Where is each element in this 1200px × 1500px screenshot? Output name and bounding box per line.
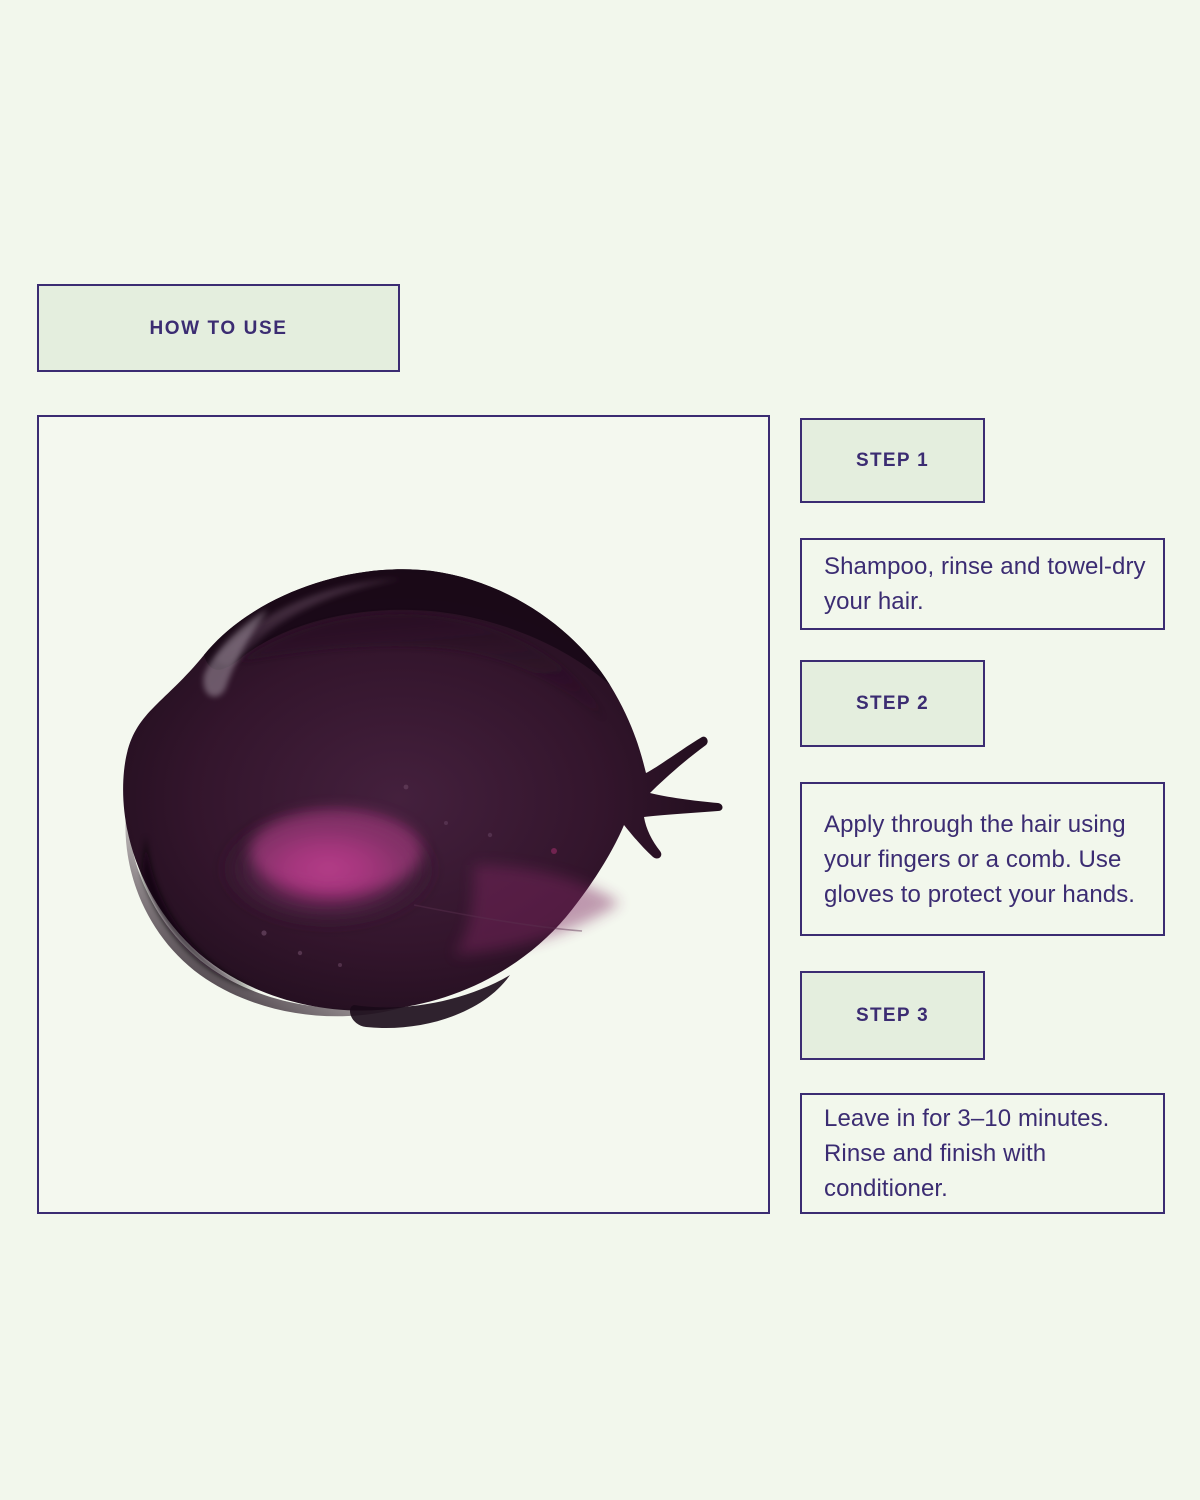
step-3-label: STEP 3 bbox=[856, 1006, 929, 1025]
swatch-pink-core bbox=[250, 809, 422, 893]
product-image-panel bbox=[37, 415, 770, 1214]
swatch-bubble bbox=[487, 832, 491, 836]
how-to-use-heading-box: HOW TO USE bbox=[37, 284, 400, 372]
step-1-label-box: STEP 1 bbox=[800, 418, 985, 503]
step-3-description: Leave in for 3–10 minutes. Rinse and fin… bbox=[802, 1101, 1163, 1206]
swatch-bubble bbox=[444, 821, 448, 825]
page-title: HOW TO USE bbox=[149, 319, 287, 338]
swatch-bubble bbox=[551, 848, 557, 854]
step-2-label-box: STEP 2 bbox=[800, 660, 985, 747]
swatch-bubble bbox=[338, 963, 342, 967]
hair-color-cream-swatch-icon bbox=[54, 535, 754, 1095]
swatch-bubble bbox=[403, 784, 408, 789]
step-3-label-box: STEP 3 bbox=[800, 971, 985, 1060]
step-2-description: Apply through the hair using your finger… bbox=[802, 807, 1163, 912]
step-2-label: STEP 2 bbox=[856, 694, 929, 713]
step-1-description-box: Shampoo, rinse and towel-dry your hair. bbox=[800, 538, 1165, 630]
swatch-bubble bbox=[261, 930, 266, 935]
step-1-description: Shampoo, rinse and towel-dry your hair. bbox=[802, 549, 1163, 619]
step-2-description-box: Apply through the hair using your finger… bbox=[800, 782, 1165, 936]
swatch-bubble bbox=[297, 950, 301, 954]
product-swatch-image bbox=[39, 417, 768, 1212]
step-1-label: STEP 1 bbox=[856, 451, 929, 470]
how-to-use-section: HOW TO USE bbox=[0, 0, 1200, 1500]
step-3-description-box: Leave in for 3–10 minutes. Rinse and fin… bbox=[800, 1093, 1165, 1214]
